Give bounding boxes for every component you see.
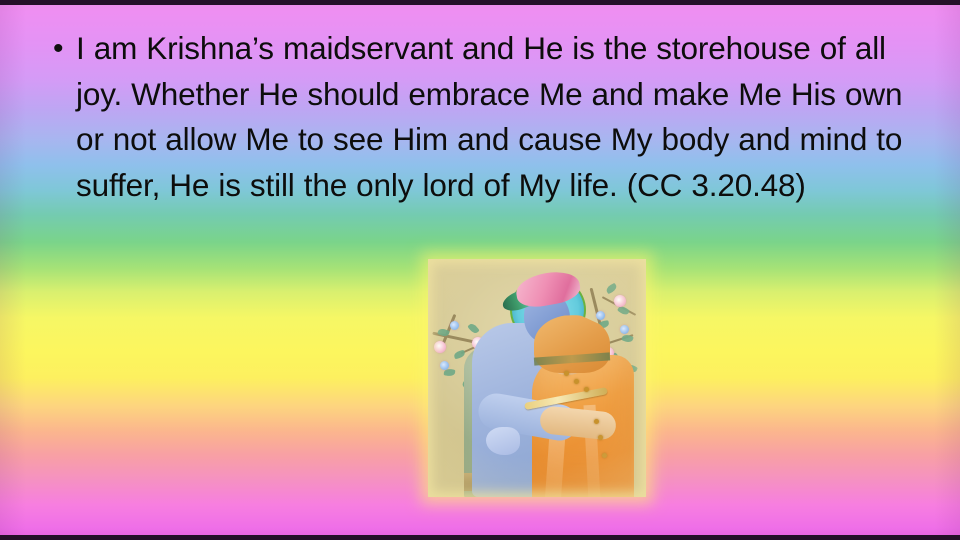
letterbox-bar-bottom (0, 535, 960, 540)
jewel-dot (574, 379, 579, 384)
painting-canvas (428, 259, 646, 497)
radha-krishna-image (428, 259, 646, 497)
krishna-hand (486, 427, 520, 455)
slide-canvas: • I am Krishna’s maidservant and He is t… (0, 0, 960, 540)
bullet-marker-icon: • (46, 26, 76, 72)
letterbox-bar-top (0, 0, 960, 5)
jewel-dot (602, 453, 607, 458)
quote-paragraph: I am Krishna’s maidservant and He is the… (76, 26, 926, 208)
jewel-dot (564, 371, 569, 376)
jewel-dot (584, 387, 589, 392)
bullet-list-item: • I am Krishna’s maidservant and He is t… (46, 26, 926, 208)
jewel-dot (594, 419, 599, 424)
slide-body-text: • I am Krishna’s maidservant and He is t… (46, 26, 926, 208)
jewel-dot (598, 435, 603, 440)
